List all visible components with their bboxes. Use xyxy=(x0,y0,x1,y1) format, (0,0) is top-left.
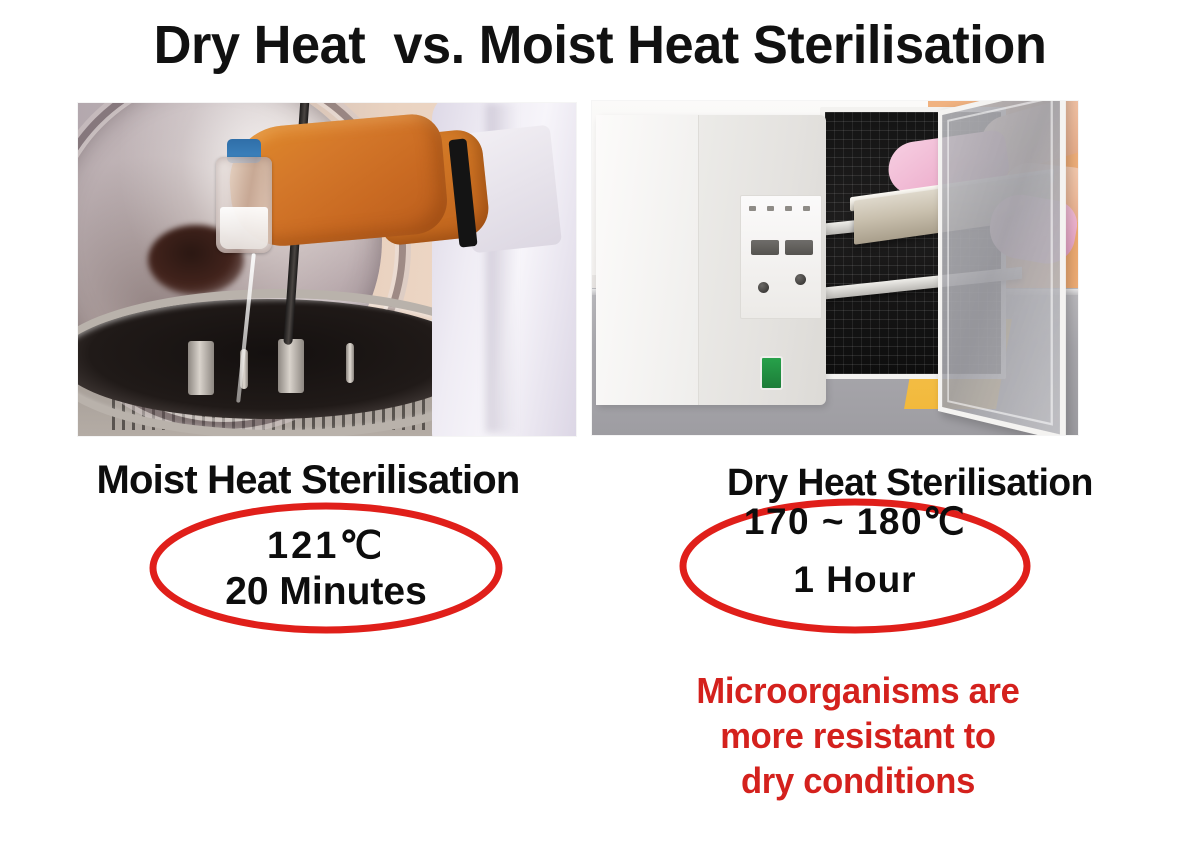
control-knob[interactable] xyxy=(758,282,769,293)
oven-control-panel xyxy=(740,195,822,319)
dry-heat-duration: 1 Hour xyxy=(793,559,916,601)
oven-door[interactable] xyxy=(938,101,1066,435)
resistance-note-line-1: Microorganisms are xyxy=(622,668,1094,713)
hot-air-oven-photo xyxy=(592,101,1078,435)
indicator-led xyxy=(767,206,774,211)
autoclave-clamp xyxy=(278,339,304,393)
moist-heat-callout: 121℃ 20 Minutes xyxy=(148,502,504,634)
temperature-display xyxy=(751,240,779,255)
dry-heat-callout: 170 ~ 180℃ 1 Hour xyxy=(678,498,1032,634)
moist-heat-caption: Moist Heat Sterilisation xyxy=(8,458,608,503)
moist-heat-temperature: 121℃ xyxy=(267,523,385,568)
indicator-led xyxy=(749,206,756,211)
infographic-stage: Dry Heat vs. Moist Heat Sterilisation xyxy=(0,0,1200,860)
timer-display xyxy=(785,240,813,255)
dry-heat-temperature: 170 ~ 180℃ xyxy=(744,500,966,543)
autoclave-clamp xyxy=(188,341,214,395)
autoclave-clamp-pin xyxy=(346,343,354,383)
moist-heat-duration: 20 Minutes xyxy=(225,570,427,614)
resistance-note-line-2: more resistant to xyxy=(622,713,1094,758)
page-title: Dry Heat vs. Moist Heat Sterilisation xyxy=(18,14,1182,76)
resistance-note-line-3: dry conditions xyxy=(622,758,1094,803)
indicator-led xyxy=(785,206,792,211)
resistance-note: Microorganisms are more resistant to dry… xyxy=(622,668,1094,803)
oven-cabinet-side xyxy=(596,115,699,405)
indicator-led xyxy=(803,206,810,211)
control-knob[interactable] xyxy=(795,274,806,285)
power-switch[interactable] xyxy=(760,356,783,390)
autoclave-photo xyxy=(78,103,576,436)
glass-bottle-contents xyxy=(220,207,268,249)
oven-door-window xyxy=(947,101,1053,426)
